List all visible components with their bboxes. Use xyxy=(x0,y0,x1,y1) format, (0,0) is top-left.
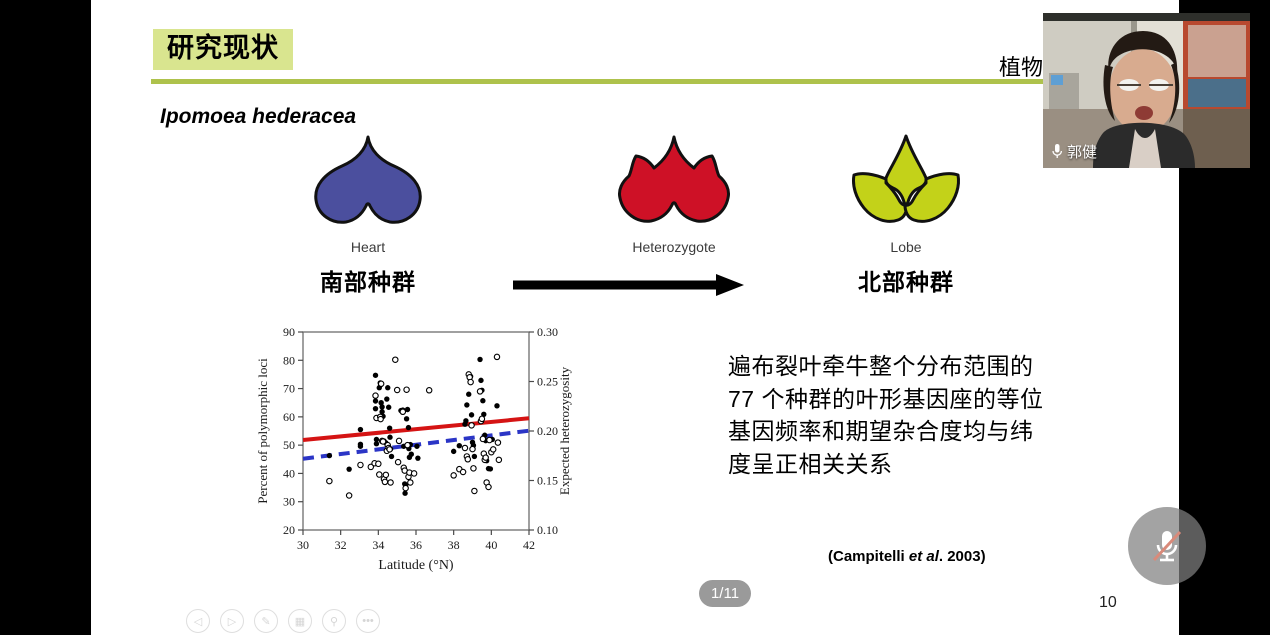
citation: (Campitelli et al. 2003) xyxy=(828,548,986,565)
video-tile[interactable]: 郭健 xyxy=(1043,13,1250,168)
svg-text:0.25: 0.25 xyxy=(537,375,558,389)
svg-text:0.10: 0.10 xyxy=(537,523,558,537)
prev-slide-icon[interactable]: ◁ xyxy=(186,609,210,633)
svg-text:0.20: 0.20 xyxy=(537,424,558,438)
scatter-plot: 3032343638404220304050607080900.100.150.… xyxy=(251,318,581,583)
page-title: 研究现状 xyxy=(167,33,279,63)
svg-text:30: 30 xyxy=(297,538,309,552)
transition-arrow-icon xyxy=(511,272,746,298)
grid-glyph: ▦ xyxy=(295,615,305,628)
population-label-north: 北部种群 xyxy=(816,263,996,297)
grid-view-icon[interactable]: ▦ xyxy=(288,609,312,633)
leaf-label-heterozygote: Heterozygote xyxy=(579,239,769,255)
population-label-south: 南部种群 xyxy=(283,263,453,297)
leaf-group-lobe: Lobe 北部种群 xyxy=(816,132,996,297)
zoom-icon[interactable]: ⚲ xyxy=(322,609,346,633)
microphone-muted-icon xyxy=(1145,524,1189,568)
slide-canvas: 研究现状 植物 Ipomoea hederacea Heart 南部种群 Het… xyxy=(91,0,1179,635)
prev-slide-glyph: ◁ xyxy=(194,615,202,628)
leaf-group-heart: Heart 南部种群 xyxy=(283,132,453,297)
svg-text:38: 38 xyxy=(448,538,460,552)
svg-text:90: 90 xyxy=(283,325,295,339)
svg-text:70: 70 xyxy=(283,382,295,396)
slide-title-box: 研究现状 xyxy=(153,29,293,70)
screen: 研究现状 植物 Ipomoea hederacea Heart 南部种群 Het… xyxy=(0,0,1270,635)
next-slide-icon[interactable]: ▷ xyxy=(220,609,244,633)
leaf-label-heart: Heart xyxy=(283,239,453,255)
svg-text:Percent of polymorphic loci: Percent of polymorphic loci xyxy=(255,358,270,504)
svg-text:42: 42 xyxy=(523,538,535,552)
mute-button[interactable] xyxy=(1128,507,1206,585)
header-corner-text: 植物 xyxy=(999,50,1043,82)
more-options-icon[interactable]: ••• xyxy=(356,609,380,633)
citation-pre: (Campitelli xyxy=(828,548,909,565)
svg-text:40: 40 xyxy=(485,538,497,552)
zoom-glyph: ⚲ xyxy=(330,615,338,628)
leaf-group-heterozygote: Heterozygote xyxy=(579,132,769,255)
svg-text:40: 40 xyxy=(283,466,295,480)
lobed-leaf-icon xyxy=(846,132,966,232)
lobed-leaf-intermediate-icon xyxy=(614,132,734,232)
presentation-toolbar[interactable]: ◁ ▷ ✎ ▦ ⚲ ••• xyxy=(186,609,380,633)
page-indicator: 1/11 xyxy=(699,580,751,607)
heart-leaf-icon xyxy=(308,132,428,232)
svg-text:34: 34 xyxy=(372,538,384,552)
slide-number: 10 xyxy=(1099,594,1117,612)
svg-text:Latitude (°N): Latitude (°N) xyxy=(378,558,454,573)
svg-text:Expected heterozygosity: Expected heterozygosity xyxy=(557,366,572,495)
svg-text:20: 20 xyxy=(283,523,295,537)
svg-text:32: 32 xyxy=(335,538,347,552)
pen-annotate-icon[interactable]: ✎ xyxy=(254,609,278,633)
more-glyph: ••• xyxy=(362,615,374,627)
citation-post: . 2003) xyxy=(939,548,986,565)
species-name: Ipomoea hederacea xyxy=(160,105,356,129)
microphone-icon xyxy=(1051,143,1063,160)
svg-text:50: 50 xyxy=(283,438,295,452)
participant-name-badge: 郭健 xyxy=(1051,141,1097,162)
svg-text:0.30: 0.30 xyxy=(537,325,558,339)
svg-text:80: 80 xyxy=(283,353,295,367)
participant-name: 郭健 xyxy=(1067,141,1097,162)
svg-text:0.15: 0.15 xyxy=(537,474,558,488)
leaf-label-lobe: Lobe xyxy=(816,239,996,255)
svg-text:60: 60 xyxy=(283,410,295,424)
body-text: 遍布裂叶牵牛整个分布范围的77 个种群的叶形基因座的等位基因频率和期望杂合度均与… xyxy=(728,350,1048,481)
svg-text:30: 30 xyxy=(283,495,295,509)
next-slide-glyph: ▷ xyxy=(228,615,236,628)
svg-text:36: 36 xyxy=(410,538,422,552)
citation-etal: et al xyxy=(909,548,939,565)
pen-glyph: ✎ xyxy=(261,615,270,628)
